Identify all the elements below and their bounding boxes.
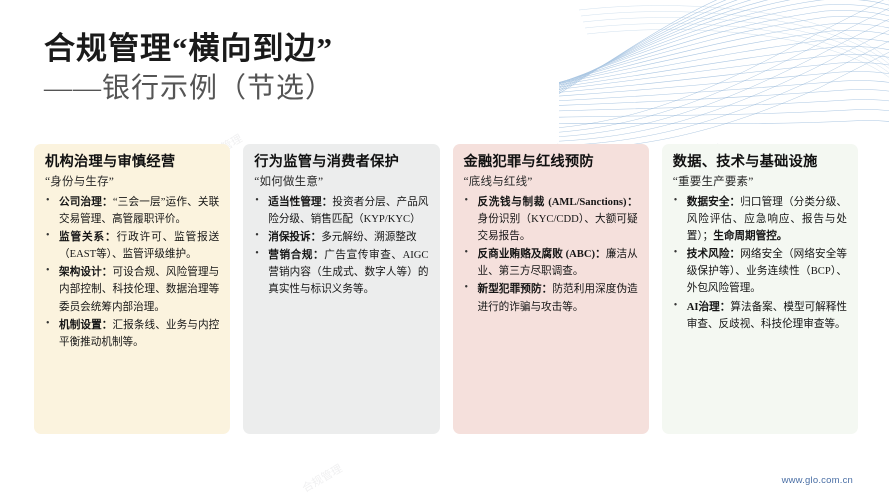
wave-mesh-decoration	[559, 0, 889, 150]
card-title: 行为监管与消费者保护	[254, 154, 428, 172]
card-title: 机构治理与审慎经营	[45, 154, 219, 172]
slide-root: 合规管理 合规管理 合规管理 合规管理 合规管理“横向到边” ——银行示例（节选…	[0, 0, 889, 500]
bullet-lead: 机制设置：	[59, 320, 112, 331]
card-subtitle: “身份与生存”	[45, 175, 219, 190]
bullet-lead: 营销合规：	[268, 250, 324, 261]
bullet-lead: AI治理：	[687, 302, 731, 313]
bullet-item: 架构设计：可设合规、风险管理与内部控制、科技伦理、数据治理等委员会统筹内部治理。	[45, 264, 219, 315]
bullet-lead: 反商业贿赂及腐败 (ABC)：	[478, 249, 606, 260]
bullet-lead: 监管关系：	[59, 232, 117, 243]
card-bullet-list: 公司治理：“三会一层”运作、关联交易管理、高管履职评价。监管关系：行政许可、监管…	[45, 194, 219, 351]
card-title: 数据、技术与基础设施	[673, 154, 847, 172]
card-financial-crime-prevention[interactable]: 金融犯罪与红线预防 “底线与红线” 反洗钱与制裁 (AML/Sanctions)…	[453, 144, 649, 434]
card-institutional-governance[interactable]: 机构治理与审慎经营 “身份与生存” 公司治理：“三会一层”运作、关联交易管理、高…	[34, 144, 230, 434]
bullet-item: 公司治理：“三会一层”运作、关联交易管理、高管履职评价。	[45, 194, 219, 228]
bullet-text: 多元解纷、溯源整改	[321, 232, 416, 243]
bullet-item: 新型犯罪预防：防范利用深度伪造进行的诈骗与攻击等。	[464, 281, 638, 315]
card-bullet-list: 反洗钱与制裁 (AML/Sanctions)：身份识别（KYC/CDD）、大额可…	[464, 194, 638, 316]
card-subtitle: “重要生产要素”	[673, 175, 847, 190]
bullet-item: 消保投诉：多元解纷、溯源整改	[254, 229, 428, 246]
bullet-lead: 新型犯罪预防：	[478, 284, 553, 295]
bullet-lead: 公司治理：	[59, 197, 113, 208]
bullet-lead: 适当性管理：	[268, 197, 332, 208]
bullet-item: 反洗钱与制裁 (AML/Sanctions)：身份识别（KYC/CDD）、大额可…	[464, 194, 638, 245]
title-subtitle: ——银行示例（节选）	[44, 71, 564, 107]
bullet-item: AI治理：算法备案、模型可解释性审查、反歧视、科技伦理审查等。	[673, 299, 847, 333]
card-bullet-list: 适当性管理：投资者分层、产品风险分级、销售匹配（KYP/KYC）消保投诉：多元解…	[254, 194, 428, 299]
bullet-lead: 数据安全：	[687, 197, 740, 208]
bullet-item: 适当性管理：投资者分层、产品风险分级、销售匹配（KYP/KYC）	[254, 194, 428, 228]
card-data-technology-infrastructure[interactable]: 数据、技术与基础设施 “重要生产要素” 数据安全：归口管理（分类分级、风险评估、…	[662, 144, 858, 434]
bullet-lead: 消保投诉：	[268, 232, 321, 243]
card-subtitle: “底线与红线”	[464, 175, 638, 190]
bullet-lead: 架构设计：	[59, 267, 112, 278]
title-main: 合规管理“横向到边”	[44, 30, 564, 69]
card-conduct-consumer-protection[interactable]: 行为监管与消费者保护 “如何做生意” 适当性管理：投资者分层、产品风险分级、销售…	[243, 144, 439, 434]
bullet-item: 数据安全：归口管理（分类分级、风险评估、应急响应、报告与处置）；生命周期管控。	[673, 194, 847, 245]
bullet-item: 机制设置：汇报条线、业务与内控平衡推动机制等。	[45, 317, 219, 351]
bullet-item: 监管关系：行政许可、监管报送（EAST等）、监管评级维护。	[45, 229, 219, 263]
bullet-lead: 技术风险：	[687, 249, 740, 260]
footer-url[interactable]: www.glo.com.cn	[782, 475, 853, 486]
page-title: 合规管理“横向到边” ——银行示例（节选）	[44, 30, 564, 107]
card-title: 金融犯罪与红线预防	[464, 154, 638, 172]
bullet-lead-secondary: 生命周期管控。	[713, 231, 787, 242]
watermark-text: 合规管理	[299, 460, 345, 496]
bullet-item: 技术风险：网络安全（网络安全等级保护等）、业务连续性（BCP）、外包风险管理。	[673, 246, 847, 297]
bullet-text: 身份识别（KYC/CDD）、大额可疑交易报告。	[478, 214, 638, 242]
bullet-item: 营销合规：广告宣传审查、AIGC营销内容（生成式、数字人等）的真实性与标识义务等…	[254, 247, 428, 298]
card-row: 机构治理与审慎经营 “身份与生存” 公司治理：“三会一层”运作、关联交易管理、高…	[34, 144, 858, 434]
card-bullet-list: 数据安全：归口管理（分类分级、风险评估、应急响应、报告与处置）；生命周期管控。技…	[673, 194, 847, 333]
bullet-lead: 反洗钱与制裁 (AML/Sanctions)：	[478, 197, 638, 208]
bullet-item: 反商业贿赂及腐败 (ABC)：廉洁从业、第三方尽职调查。	[464, 246, 638, 280]
card-subtitle: “如何做生意”	[254, 175, 428, 190]
